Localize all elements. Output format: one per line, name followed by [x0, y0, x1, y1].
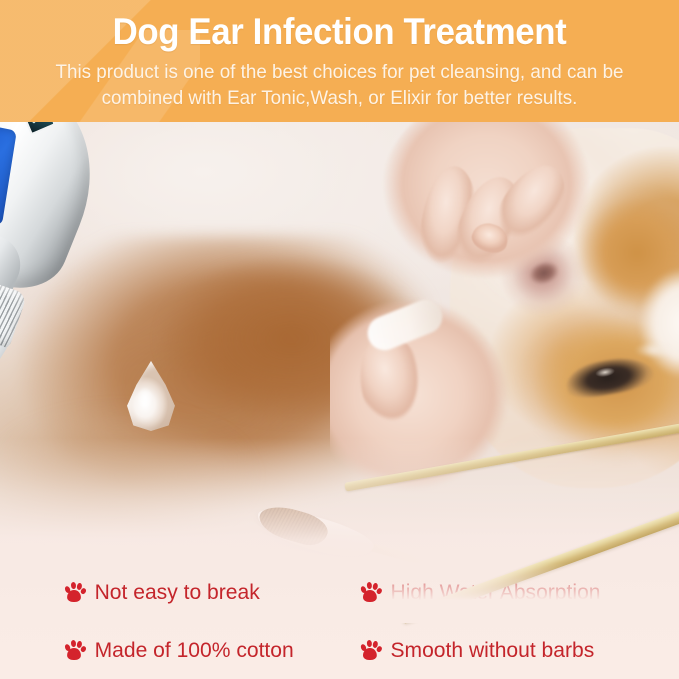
paw-icon [64, 581, 86, 603]
feature-grid: Not easy to break High Water Absorption … [0, 563, 679, 679]
page-title: Dog Ear Infection Treatment [20, 10, 658, 54]
feature-item-smooth-without-barbs: Smooth without barbs [348, 637, 675, 663]
feature-list-panel: Not easy to break High Water Absorption … [0, 563, 679, 679]
page-subtitle: This product is one of the best choices … [31, 60, 648, 111]
feature-label: Made of 100% cotton [95, 637, 294, 663]
droplet-highlight [137, 387, 153, 409]
paw-icon [360, 581, 382, 603]
paw-icon [360, 639, 382, 661]
liquid-droplet [125, 361, 177, 431]
feature-item-made-of-cotton: Made of 100% cotton [3, 637, 341, 663]
header-banner: Dog Ear Infection Treatment This product… [0, 0, 679, 122]
product-photo [0, 118, 679, 568]
feature-label: Not easy to break [95, 579, 260, 605]
product-infographic: Dog Ear Infection Treatment This product… [0, 0, 679, 679]
paw-icon [64, 639, 86, 661]
feature-label: Smooth without barbs [390, 637, 594, 663]
feature-item-not-easy-to-break: Not easy to break [3, 579, 341, 605]
bottle-body [0, 118, 121, 304]
